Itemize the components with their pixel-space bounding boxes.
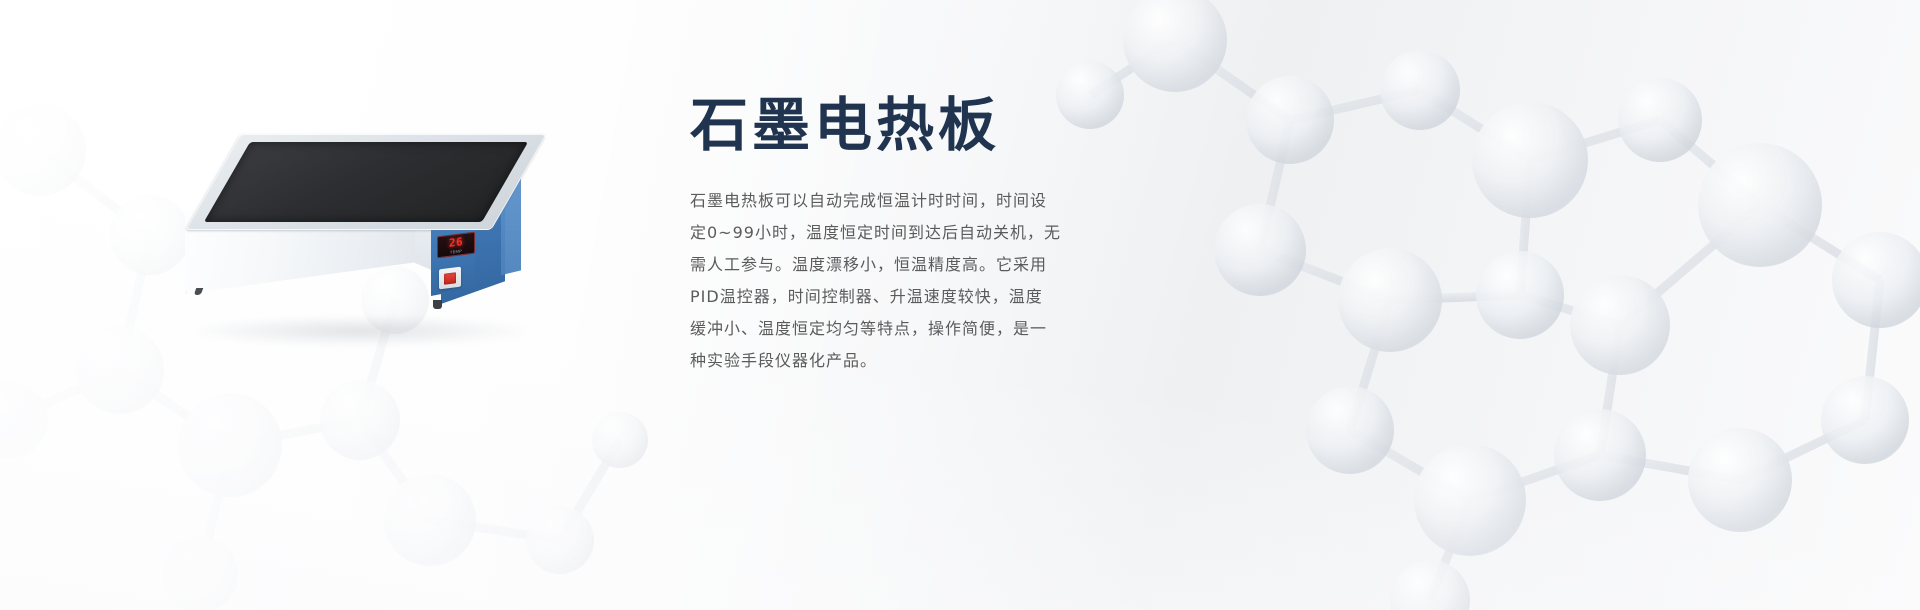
banner-text-block: 石墨电热板 石墨电热板可以自动完成恒温计时时间，时间设 定0~99小时，温度恒定… (690, 92, 1110, 377)
product-description: 石墨电热板可以自动完成恒温计时时间，时间设 定0~99小时，温度恒定时间到达后自… (690, 185, 1050, 377)
product-foot-left (194, 288, 204, 295)
temperature-display-value: 26 (449, 236, 463, 249)
temperature-display: 26 TEMP (437, 232, 475, 259)
description-line-2: 定0~99小时，温度恒定时间到达后自动关机，无 (690, 217, 1050, 249)
temperature-display-label: TEMP (450, 249, 462, 255)
description-line-3: 需人工参与。温度漂移小，恒温精度高。它采用 (690, 249, 1050, 281)
description-line-1: 石墨电热板可以自动完成恒温计时时间，时间设 (690, 185, 1050, 217)
page-title: 石墨电热板 (690, 92, 1110, 159)
description-line-5: 缓冲小、温度恒定均匀等特点，操作简便，是一 (690, 313, 1050, 345)
power-switch-rocker (444, 272, 456, 284)
product-banner: 26 TEMP 石墨电热板 石墨电热板可以自动完成恒温计时时间，时间设 定0~9… (0, 0, 1920, 610)
description-line-6: 种实验手段仪器化产品。 (690, 345, 1050, 377)
product-image-graphite-hotplate: 26 TEMP (165, 120, 565, 380)
product-foot-right (433, 300, 442, 309)
plate-rim (185, 134, 546, 230)
description-line-4: PID温控器，时间控制器、升温速度较快，温度 (690, 281, 1050, 313)
power-switch (439, 267, 461, 290)
product-shadow (195, 316, 525, 346)
